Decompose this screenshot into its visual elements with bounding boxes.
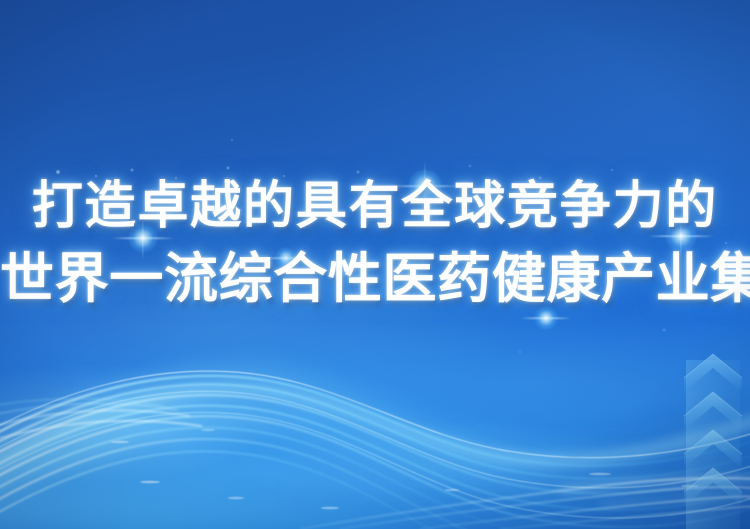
light-particle [283, 175, 286, 178]
edge-vignette [0, 0, 750, 529]
light-particle [519, 351, 522, 354]
light-particle [469, 165, 472, 168]
slogan-text-block: 打造卓越的具有全球竞争力的 世界一流综合性医药健康产业集团 [0, 172, 750, 316]
light-particle [611, 169, 614, 172]
slogan-banner: 打造卓越的具有全球竞争力的 世界一流综合性医药健康产业集团 [0, 0, 750, 529]
sparkle-ray-vertical [680, 212, 681, 260]
sparkle-core [128, 223, 158, 253]
sparkle-core [408, 169, 442, 203]
sparkle-ray-horizontal [112, 237, 175, 239]
slogan-line-2: 世界一流综合性医药健康产业集团 [0, 242, 750, 316]
light-particle [175, 177, 178, 180]
sparkle-ray-horizontal [647, 235, 714, 237]
ascending-chevron-emblem [682, 344, 744, 529]
light-particle [130, 168, 134, 172]
light-particle [231, 139, 234, 142]
light-particle [56, 170, 61, 175]
particle-field [0, 0, 750, 529]
sparkle-core [275, 247, 297, 269]
light-particle [226, 166, 230, 170]
light-particle [710, 194, 714, 198]
sparkle-ray-vertical [142, 216, 143, 261]
background-haze-upper [0, 0, 750, 529]
light-particle [356, 170, 360, 174]
light-particle [538, 176, 542, 180]
slogan-line-1: 打造卓越的具有全球竞争力的 [0, 172, 750, 242]
light-particle [95, 175, 98, 178]
light-particle [725, 242, 728, 245]
sparkle-core [534, 306, 558, 330]
background-haze-lower [0, 0, 750, 529]
sparkle-ray-horizontal [521, 317, 571, 319]
light-particle [662, 328, 666, 332]
sparkle-ray-vertical [424, 161, 425, 212]
sparkle-core [665, 220, 697, 252]
wave-streaks-decoration [0, 0, 750, 529]
sparkle-ray-horizontal [389, 185, 460, 187]
sparkle-ray-horizontal [263, 257, 309, 259]
